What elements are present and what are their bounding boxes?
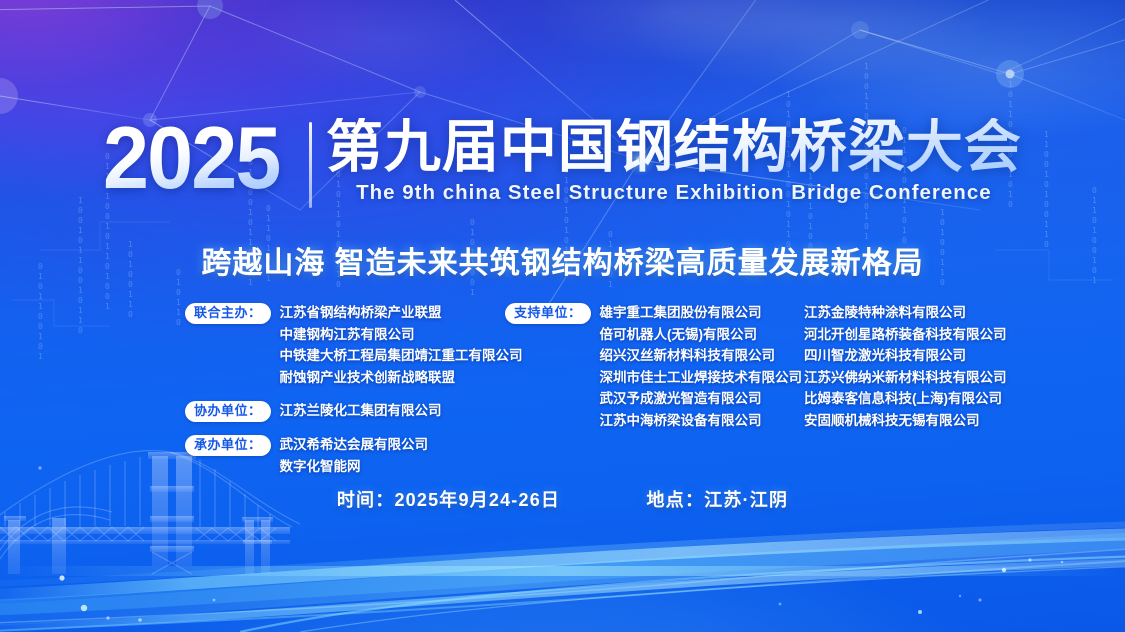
organizer-group-undertaker: 承办单位： 武汉希希达会展有限公司 数字化智能网 xyxy=(185,434,505,477)
organizer-name: 数字化智能网 xyxy=(280,456,429,478)
organizer-name: 倍可机器人(无锡)有限公司 xyxy=(600,324,803,346)
banner-content: 2025 第九届中国钢结构桥梁大会 The 9th china Steel St… xyxy=(0,0,1125,632)
organizer-column-right: 江苏金陵特种涂料有限公司 河北开创星路桥装备科技有限公司 四川智龙激光科技有限公… xyxy=(795,302,1045,431)
organizer-name: 耐蚀钢产业技术创新战略联盟 xyxy=(280,367,523,389)
organizer-column-middle: 支持单位： 雄宇重工集团股份有限公司 倍可机器人(无锡)有限公司 绍兴汉丝新材料… xyxy=(505,302,795,433)
place-value: 江苏·江阴 xyxy=(704,490,788,510)
organizer-name: 河北开创星路桥装备科技有限公司 xyxy=(804,324,1045,346)
label-co-host: 联合主办： xyxy=(185,303,271,324)
organizer-name: 中铁建大桥工程局集团靖江重工有限公司 xyxy=(280,345,523,367)
organizer-name: 江苏兰陵化工集团有限公司 xyxy=(280,400,442,422)
organizer-name: 江苏兴佛纳米新材料科技有限公司 xyxy=(804,367,1045,389)
organizer-name: 比姆泰客信息科技(上海)有限公司 xyxy=(804,388,1045,410)
organizers-section: 联合主办： 江苏省钢结构桥梁产业联盟 中建钢构江苏有限公司 中铁建大桥工程局集团… xyxy=(185,302,1045,479)
organizer-group-supporter: 支持单位： 雄宇重工集团股份有限公司 倍可机器人(无锡)有限公司 绍兴汉丝新材料… xyxy=(505,302,795,431)
conference-banner: 0 1 0 1 1 0 0 1 0 1 1 0 0 1 0 1 1 0 0 1 … xyxy=(0,0,1125,632)
organizer-name: 江苏中海桥梁设备有限公司 xyxy=(600,410,803,432)
organizer-name: 深圳市佳士工业焊接技术有限公司 xyxy=(600,367,803,389)
main-title-cn: 第九届中国钢结构桥梁大会 xyxy=(326,118,1022,176)
organizer-column-left: 联合主办： 江苏省钢结构桥梁产业联盟 中建钢构江苏有限公司 中铁建大桥工程局集团… xyxy=(185,302,505,479)
label-undertaker: 承办单位： xyxy=(185,435,271,456)
cooperator-names: 江苏兰陵化工集团有限公司 xyxy=(280,400,442,422)
title-row: 2025 第九届中国钢结构桥梁大会 The 9th china Steel St… xyxy=(0,118,1125,208)
date-label: 时间： xyxy=(337,490,395,510)
co-host-names: 江苏省钢结构桥梁产业联盟 中建钢构江苏有限公司 中铁建大桥工程局集团靖江重工有限… xyxy=(280,302,523,388)
label-supporter: 支持单位： xyxy=(505,303,591,324)
organizer-name: 江苏金陵特种涂料有限公司 xyxy=(804,302,1045,324)
organizer-name: 武汉予成激光智造有限公司 xyxy=(600,388,803,410)
undertaker-names: 武汉希希达会展有限公司 数字化智能网 xyxy=(280,434,429,477)
organizer-group-cooperator: 协办单位： 江苏兰陵化工集团有限公司 xyxy=(185,400,505,422)
organizer-name: 四川智龙激光科技有限公司 xyxy=(804,345,1045,367)
organizer-columns: 联合主办： 江苏省钢结构桥梁产业联盟 中建钢构江苏有限公司 中铁建大桥工程局集团… xyxy=(185,302,1045,479)
organizer-name: 绍兴汉丝新材料科技有限公司 xyxy=(600,345,803,367)
title-divider xyxy=(309,122,312,208)
organizer-group-co-host: 联合主办： 江苏省钢结构桥梁产业联盟 中建钢构江苏有限公司 中铁建大桥工程局集团… xyxy=(185,302,505,388)
main-title-en: The 9th china Steel Structure Exhibition… xyxy=(326,181,1022,205)
label-cooperator: 协办单位： xyxy=(185,401,271,422)
group-spacer xyxy=(185,390,505,400)
supporter-names: 雄宇重工集团股份有限公司 倍可机器人(无锡)有限公司 绍兴汉丝新材料科技有限公司… xyxy=(600,302,803,431)
event-details: 时间：2025年9月24-26日 地点：江苏·江阴 xyxy=(0,486,1125,512)
title-block: 第九届中国钢结构桥梁大会 The 9th china Steel Structu… xyxy=(326,118,1022,205)
organizer-name: 江苏省钢结构桥梁产业联盟 xyxy=(280,302,523,324)
date-value: 2025年9月24-26日 xyxy=(394,490,560,510)
organizer-name: 安固顺机械科技无锡有限公司 xyxy=(804,410,1045,432)
organizer-name: 雄宇重工集团股份有限公司 xyxy=(600,302,803,324)
supporter-names-continued: 江苏金陵特种涂料有限公司 河北开创星路桥装备科技有限公司 四川智龙激光科技有限公… xyxy=(804,302,1045,431)
year-number: 2025 xyxy=(103,118,285,199)
group-spacer xyxy=(185,424,505,434)
slogan: 跨越山海 智造未来共筑钢结构桥梁高质量发展新格局 xyxy=(0,238,1125,282)
place-label: 地点： xyxy=(647,490,705,510)
organizer-name: 中建钢构江苏有限公司 xyxy=(280,324,523,346)
organizer-name: 武汉希希达会展有限公司 xyxy=(280,434,429,456)
